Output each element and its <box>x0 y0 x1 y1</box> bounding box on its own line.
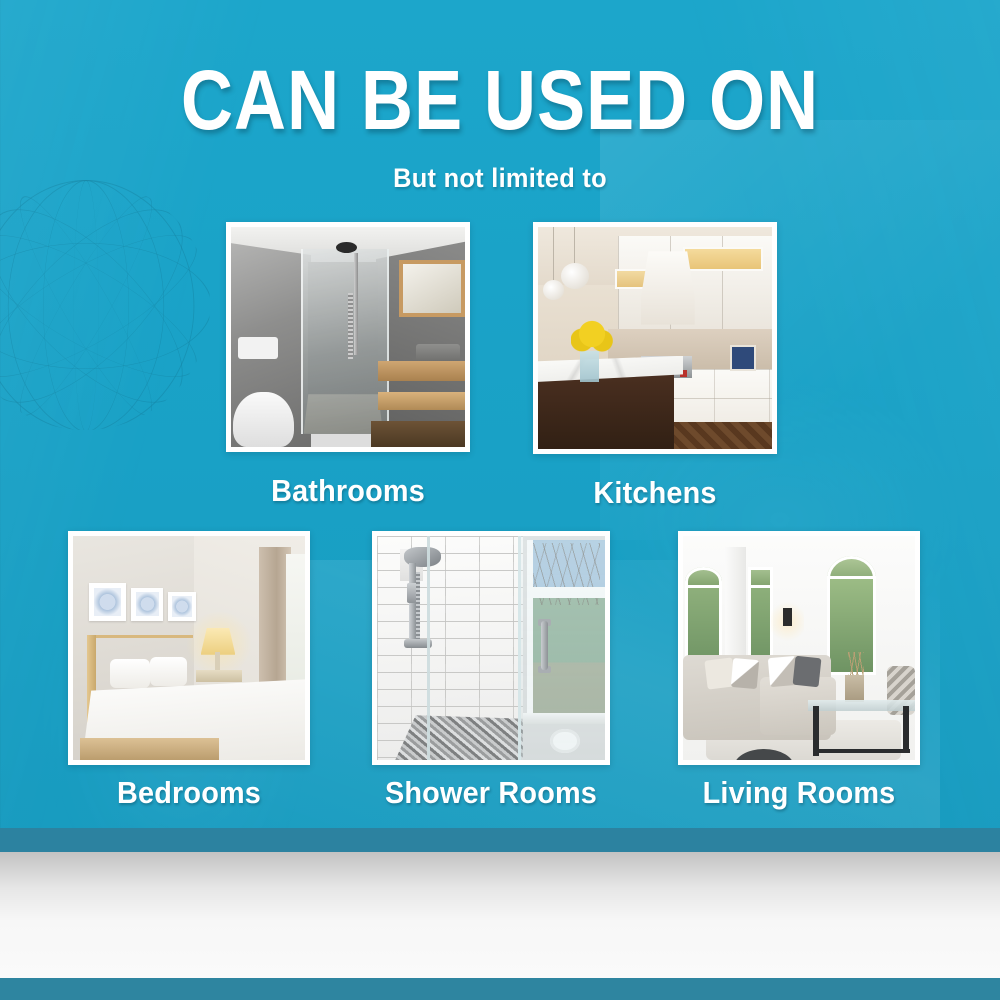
caption-living-rooms: Living Rooms <box>640 775 958 811</box>
bottom-band <box>0 978 1000 1000</box>
wall-sconce <box>783 608 792 626</box>
divider-band <box>0 828 1000 852</box>
pendant-light <box>543 280 564 300</box>
photo-card-bathrooms <box>226 222 470 452</box>
photo-card-living-rooms <box>678 531 920 765</box>
caption-shower-rooms: Shower Rooms <box>332 775 650 811</box>
photo-card-shower-rooms <box>372 531 610 765</box>
page-subtitle: But not limited to <box>30 163 970 194</box>
page-title: CAN BE USED ON <box>70 58 930 142</box>
photo-kitchens <box>538 227 772 449</box>
photo-card-kitchens <box>533 222 777 454</box>
caption-bedrooms: Bedrooms <box>31 775 347 811</box>
caption-bathrooms: Bathrooms <box>188 473 508 509</box>
photo-card-bedrooms <box>68 531 310 765</box>
photo-bathrooms <box>231 227 465 447</box>
caption-kitchens: Kitchens <box>495 475 815 511</box>
photo-bedrooms <box>73 536 305 760</box>
photo-living-rooms <box>683 536 915 760</box>
promo-graphic: CAN BE USED ON But not limited to Bathro… <box>0 0 1000 1000</box>
photo-shower-rooms <box>377 536 605 760</box>
flowers-decor <box>571 316 613 356</box>
footer-panel: MADE IN BRITAIN MADE IN BRITAIN <box>0 852 1000 978</box>
